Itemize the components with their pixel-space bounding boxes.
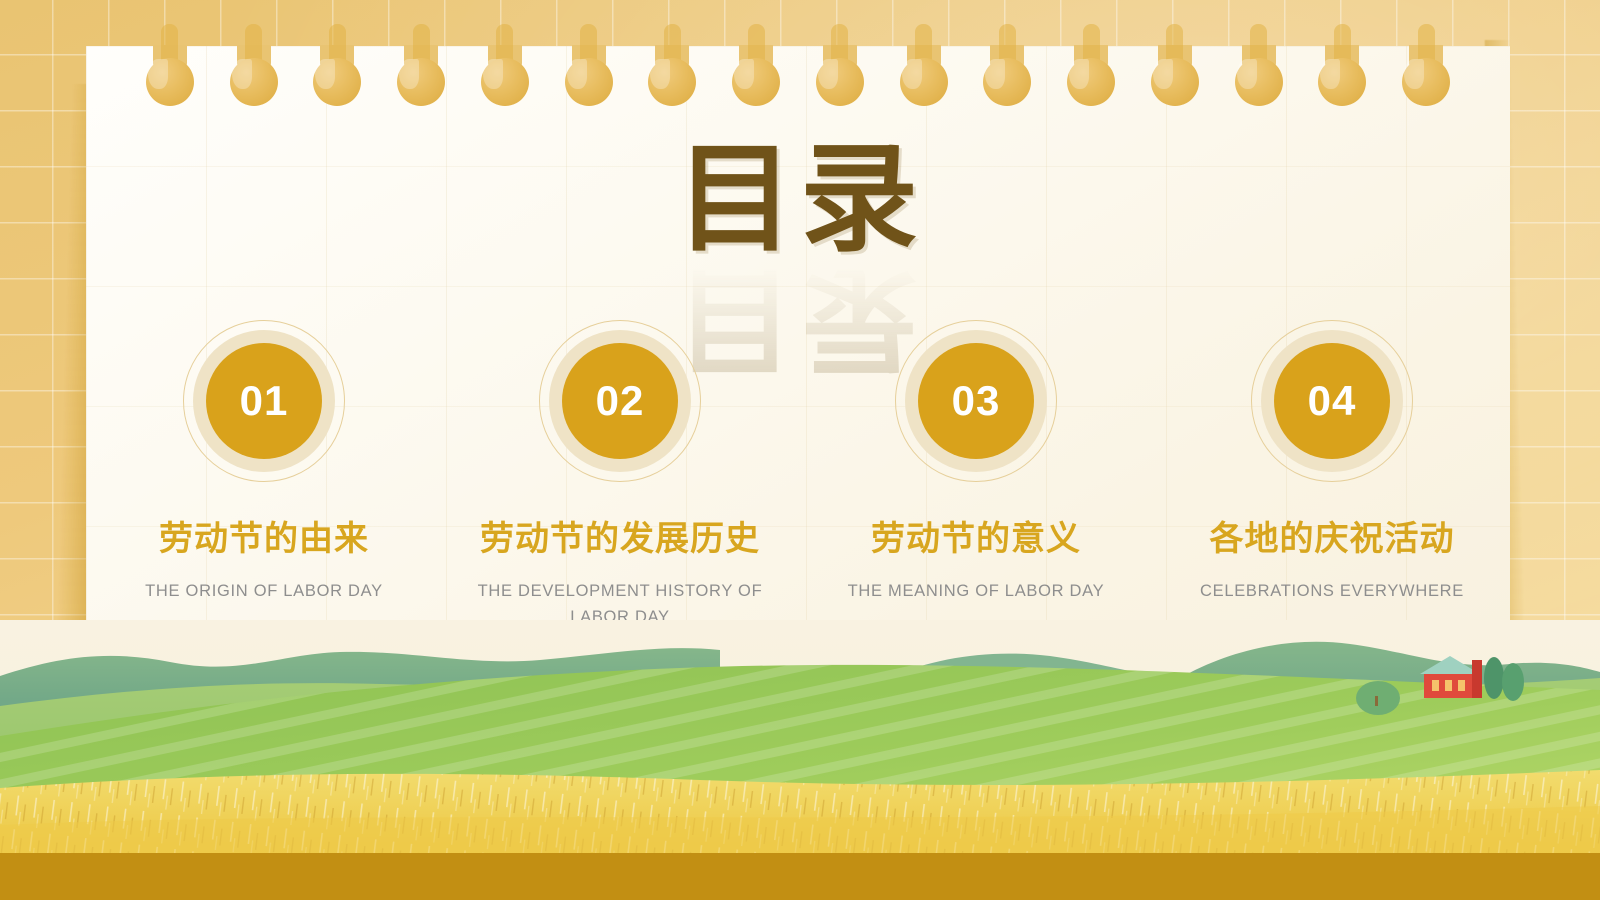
section-subtitle: THE ORIGIN OF LABOR DAY [109, 578, 419, 604]
section-badge-core: 02 [562, 343, 678, 459]
section-badge[interactable]: 04 [1251, 320, 1413, 482]
toc-section-04[interactable]: 04各地的庆祝活动CELEBRATIONS EVERYWHERE [1154, 320, 1510, 631]
section-subtitle: CELEBRATIONS EVERYWHERE [1177, 578, 1487, 604]
section-number: 03 [952, 380, 1001, 422]
binder-ring-icon [1151, 58, 1199, 106]
section-title: 劳动节的由来 [94, 520, 434, 559]
toc-section-03[interactable]: 03劳动节的意义THE MEANING OF LABOR DAY [798, 320, 1154, 631]
binder-ring-icon [1067, 58, 1115, 106]
section-subtitle: THE MEANING OF LABOR DAY [821, 578, 1131, 604]
section-badge-core: 04 [1274, 343, 1390, 459]
section-title: 各地的庆祝活动 [1162, 520, 1502, 559]
section-badge[interactable]: 03 [895, 320, 1057, 482]
binder-ring-icon [481, 58, 529, 106]
section-number: 01 [240, 380, 289, 422]
section-title: 劳动节的发展历史 [450, 520, 790, 559]
bottom-accent-band [0, 853, 1600, 900]
section-badge[interactable]: 01 [183, 320, 345, 482]
binder-ring-icon [900, 58, 948, 106]
binder-ring-icon [648, 58, 696, 106]
section-number: 04 [1308, 380, 1357, 422]
binder-ring-icon [397, 58, 445, 106]
binder-ring-icon [565, 58, 613, 106]
binder-ring-icon [816, 58, 864, 106]
binder-ring-icon [230, 58, 278, 106]
binder-ring-icon [732, 58, 780, 106]
toc-section-01[interactable]: 01劳动节的由来THE ORIGIN OF LABOR DAY [86, 320, 442, 631]
section-title: 劳动节的意义 [806, 520, 1146, 559]
binder-ring-icon [1402, 58, 1450, 106]
section-badge-core: 01 [206, 343, 322, 459]
binder-ring-icon [1235, 58, 1283, 106]
binder-ring-icon [146, 58, 194, 106]
section-badge-core: 03 [918, 343, 1034, 459]
toc-columns: 01劳动节的由来THE ORIGIN OF LABOR DAY02劳动节的发展历… [86, 320, 1510, 631]
toc-section-02[interactable]: 02劳动节的发展历史THE DEVELOPMENT HISTORY OF LAB… [442, 320, 798, 631]
section-badge[interactable]: 02 [539, 320, 701, 482]
slide-canvas: 目录 目录 01劳动节的由来THE ORIGIN OF LABOR DAY02劳… [0, 0, 1600, 900]
binder-ring-icon [313, 58, 361, 106]
section-number: 02 [596, 380, 645, 422]
